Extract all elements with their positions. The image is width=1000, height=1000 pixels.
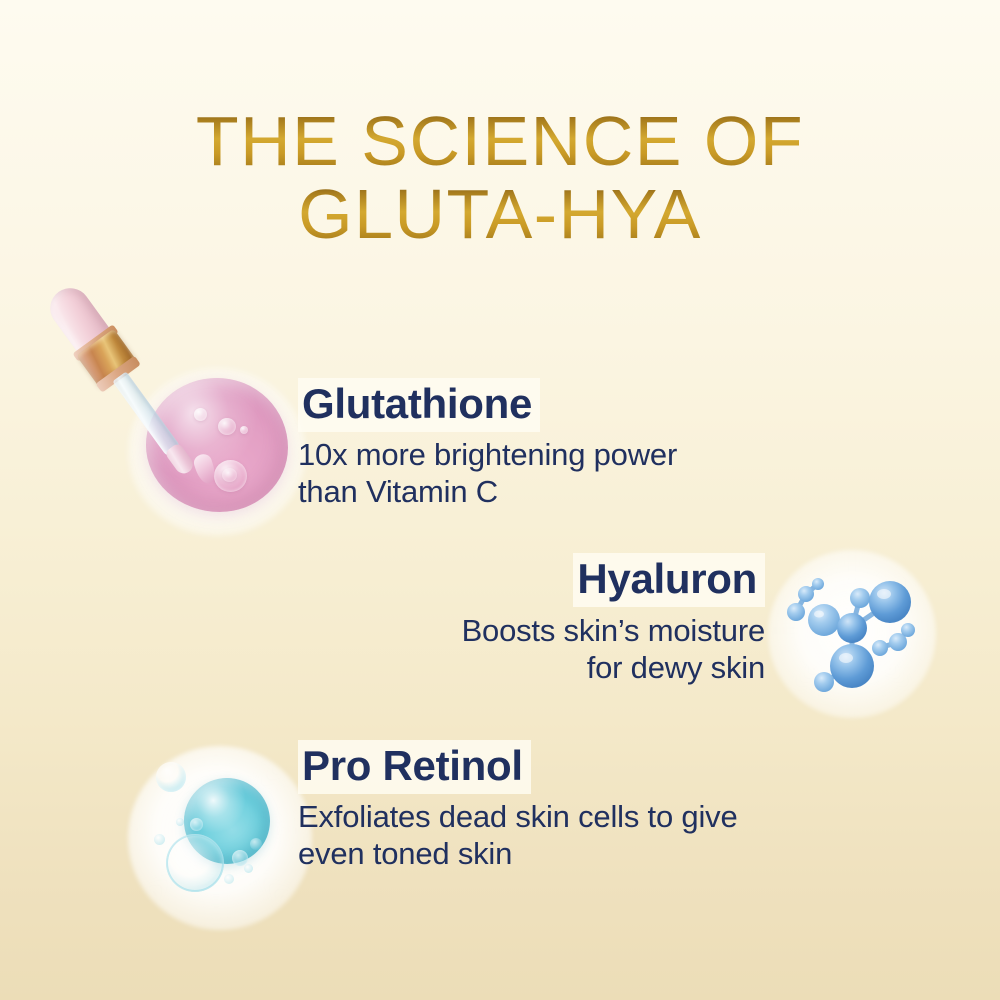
ingredient-body-glutathione: 10x more brightening power than Vitamin … — [298, 437, 677, 510]
droplet-bubble — [222, 468, 237, 482]
ingredient-body-hyaluron: Boosts skin’s moisture for dewy skin — [405, 613, 765, 686]
poster-canvas: THE SCIENCE OF GLUTA-HYA Glutathione 10x… — [0, 0, 1000, 1000]
bubble-tiny — [176, 818, 184, 826]
title-line-2: GLUTA-HYA — [0, 181, 1000, 248]
cyan-bubbles-icon — [128, 746, 312, 930]
droplet-bubble — [240, 426, 248, 434]
bubble-tiny — [250, 838, 262, 850]
bubble-small — [156, 762, 186, 792]
bubble-tiny — [244, 864, 253, 873]
ingredient-body-pro-retinol: Exfoliates dead skin cells to give even … — [298, 799, 738, 872]
blue-molecule-icon — [768, 550, 936, 718]
ingredient-heading-pro-retinol: Pro Retinol — [298, 740, 531, 794]
ingredient-heading-glutathione: Glutathione — [298, 378, 540, 432]
title-line-1: THE SCIENCE OF — [0, 108, 1000, 175]
ingredient-hyaluron: Hyaluron Boosts skin’s moisture for dewy… — [405, 553, 765, 686]
pink-serum-dropper-icon — [36, 282, 306, 537]
page-title: THE SCIENCE OF GLUTA-HYA — [0, 108, 1000, 248]
ingredient-heading-hyaluron: Hyaluron — [573, 553, 765, 607]
bubble-tiny — [190, 818, 203, 831]
droplet-bubble — [194, 408, 207, 421]
bubble-medium — [166, 834, 224, 892]
ingredient-pro-retinol: Pro Retinol Exfoliates dead skin cells t… — [298, 740, 738, 872]
bubble-tiny — [154, 834, 165, 845]
droplet-bubble — [218, 418, 236, 435]
bubble-tiny — [224, 874, 234, 884]
ingredient-glutathione: Glutathione 10x more brightening power t… — [298, 378, 677, 510]
